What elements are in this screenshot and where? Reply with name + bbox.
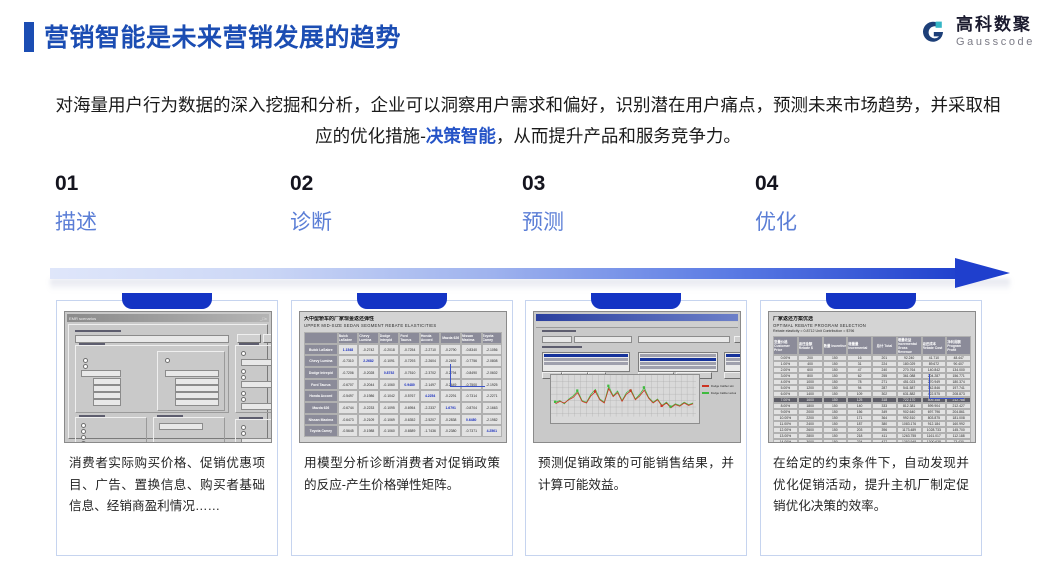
matrix-cell: -0.2028 — [358, 367, 379, 379]
rebate-callout-line — [929, 374, 964, 399]
matrix-cell: -0.6707 — [338, 379, 359, 391]
rebate-cell: 1300.638 — [922, 439, 947, 443]
steps-row: 01 描述 02 诊断 03 预测 04 优化 — [0, 172, 1051, 252]
matrix-row-header: Nissan Maxima — [304, 414, 338, 426]
matrix-corner-cell — [304, 332, 338, 344]
matrix-cell: -0.1060 — [379, 379, 400, 391]
matrix-cell: -2.1056 — [482, 344, 503, 356]
matrix-cell: -0.7314 — [461, 390, 482, 402]
card-describe[interactable]: EMR scenarios_□× — [56, 300, 278, 556]
matrix-cell: -0.7371 — [461, 425, 482, 437]
matrix-col-header: Dodge Intrepid — [379, 332, 400, 344]
legend-label: Dodge Caliber sim — [711, 384, 734, 388]
legend-item: Dodge Caliber sim — [702, 384, 736, 388]
rebate-cell: 427 — [872, 439, 897, 443]
intro-paragraph: 对海量用户行为数据的深入挖掘和分析，企业可以洞察用户需求和偏好，识别潜在用户痛点… — [52, 90, 1004, 151]
rebate-col-header: 总计 Total — [872, 336, 897, 355]
matrix-cell: -0.7254 — [399, 344, 420, 356]
card-tab-badge — [591, 293, 681, 309]
step-04: 04 优化 — [755, 172, 975, 234]
matrix-cell: -0.7293 — [399, 355, 420, 367]
brand-logo: 高科数聚 Gausscode — [918, 16, 1035, 48]
screenshot-elasticity-matrix: 大中型轿车的厂家现金返还弹性 UPPER MID-SIZE SEDAN SEGM… — [299, 311, 507, 443]
matrix-cell: -2.3702 — [420, 367, 441, 379]
logo-text-en: Gausscode — [956, 37, 1035, 48]
matrix-callout-line — [450, 364, 485, 387]
cards-row: EMR scenarios_□× — [0, 300, 1051, 566]
matrix-row-header: Mazda 626 — [304, 402, 338, 414]
matrix-cell: -1.7436 — [420, 425, 441, 437]
matrix-cell: -0.5497 — [338, 390, 359, 402]
card-tab-badge — [826, 293, 916, 309]
matrix-cell: 0.8752 — [379, 367, 400, 379]
card-tab-badge — [357, 293, 447, 309]
matrix-cell: -2.5207 — [420, 414, 441, 426]
slide-header: 营销智能是未来营销发展的趋势 高科数聚 Gausscode — [0, 0, 1051, 70]
matrix-cell: -2.1663 — [482, 402, 503, 414]
matrix-cell: -0.1095 — [379, 402, 400, 414]
matrix-cell: -0.5767 — [399, 390, 420, 402]
matrix-cell: -0.1042 — [379, 390, 400, 402]
matrix-cell: -0.2018 — [379, 344, 400, 356]
rebate-cell: 3000 — [798, 439, 823, 443]
matrix-col-header: Buick LaSabre — [338, 332, 359, 344]
matrix-col-header: Ford Taurus — [399, 332, 420, 344]
matrix-cell: -0.2233 — [358, 402, 379, 414]
matrix-title-cn: 大中型轿车的厂家现金返还弹性 — [304, 316, 502, 323]
sim-menu-bar — [536, 322, 738, 328]
matrix-cell: -0.2291 — [440, 390, 461, 402]
step-number: 01 — [55, 172, 275, 195]
matrix-col-header: Honda Accord — [420, 332, 441, 344]
rebate-row: 14.00%30001502344271353.9481300.63873.43… — [773, 439, 971, 443]
progress-arrow — [50, 264, 1010, 288]
card-diagnose[interactable]: 大中型轿车的厂家现金返还弹性 UPPER MID-SIZE SEDAN SEGM… — [291, 300, 513, 556]
screenshot-rebate-table: 厂家返还方案优选 OPTIMAL REBATE PROGRAM SELECTIO… — [768, 311, 976, 443]
rebate-cell: 1353.948 — [897, 439, 922, 443]
matrix-cell: -0.5645 — [338, 425, 359, 437]
window-controls: _□× — [260, 316, 267, 321]
matrix-row-header: Toyota Camry — [304, 425, 338, 437]
matrix-cell: -0.1060 — [379, 425, 400, 437]
rebate-col-header: 数量 Incentive — [823, 336, 848, 355]
matrix-cell: -0.2838 — [440, 414, 461, 426]
card-caption: 消费者实际购买价格、促销优惠项目、广告、置换信息、购买者基础信息、经销商盈利情况… — [69, 453, 265, 518]
matrix-row-header: Buick LaSabre — [304, 344, 338, 356]
sim-chart-legend: Dodge Caliber sim Dodge Caliber actual — [702, 384, 736, 398]
matrix-cell: 1.6791 — [440, 402, 461, 414]
matrix-cell: -0.2044 — [358, 379, 379, 391]
rebate-col-header: 净利润额 Program Profit — [946, 336, 971, 355]
matrix-cell: -0.6589 — [399, 425, 420, 437]
matrix-cell: -2.2337 — [420, 402, 441, 414]
logo-text-cn: 高科数聚 — [956, 16, 1035, 33]
title-accent-bar — [24, 22, 34, 52]
rebate-subtitle: Rebate elasticity = 0.8712 Unit Contribu… — [773, 329, 971, 334]
arrow-bar — [50, 268, 965, 279]
step-number: 03 — [522, 172, 742, 195]
matrix-cell: -0.2380 — [440, 425, 461, 437]
matrix-cell: -0.1986 — [358, 390, 379, 402]
matrix-cell: 1.1548 — [338, 344, 359, 356]
matrix-row: Buick LaSabre1.1548-0.2742-0.2018-0.7254… — [304, 344, 502, 356]
matrix-cell: 0.9480 — [399, 379, 420, 391]
matrix-cell: -0.2109 — [358, 414, 379, 426]
matrix-cell: -0.1988 — [358, 425, 379, 437]
matrix-cell: 4.2561 — [482, 425, 503, 437]
matrix-col-header: Chevy Lumina — [358, 332, 379, 344]
sim-window-title — [536, 314, 738, 321]
rebate-col-header: 变量价格 Customer Price — [773, 336, 798, 355]
matrix-row-header: Ford Taurus — [304, 379, 338, 391]
matrix-cell: -0.8704 — [461, 402, 482, 414]
rebate-title-cn: 厂家返还方案优选 — [773, 316, 971, 323]
step-01: 01 描述 — [55, 172, 275, 234]
matrix-cell: -0.1091 — [379, 355, 400, 367]
legend-item: Dodge Caliber actual — [702, 391, 736, 395]
matrix-cell: 2.2682 — [358, 355, 379, 367]
matrix-col-header: Toyota Camry — [482, 332, 503, 344]
step-label: 预测 — [522, 211, 742, 234]
matrix-header-row: Buick LaSabreChevy LuminaDodge IntrepidF… — [304, 332, 502, 344]
matrix-cell: 4.2254 — [420, 390, 441, 402]
step-03: 03 预测 — [522, 172, 742, 234]
paragraph-highlight: 决策智能 — [426, 126, 496, 146]
matrix-cell: -2.2271 — [482, 390, 503, 402]
matrix-cell: -2.1982 — [482, 414, 503, 426]
matrix-cell: -0.2790 — [440, 344, 461, 356]
sim-line-chart — [550, 374, 700, 424]
matrix-title-en: UPPER MID-SIZE SEDAN SEGMENT REBATE ELAS… — [304, 323, 502, 329]
card-caption: 用模型分析诊断消费者对促销政策的反应-产生价格弹性矩阵。 — [304, 453, 500, 496]
step-02: 02 诊断 — [290, 172, 510, 234]
matrix-col-header: Mazda 626 — [440, 332, 461, 344]
card-tab-badge — [122, 293, 212, 309]
matrix-row: Nissan Maxima-0.6473-0.2109-0.1069-0.635… — [304, 414, 502, 426]
rebate-col-header: 增量收益 Incremental Gross Revenue — [897, 336, 922, 355]
matrix-row-header: Honda Accord — [304, 390, 338, 402]
matrix-row-header: Dodge Intrepid — [304, 367, 338, 379]
card-optimize[interactable]: 厂家返还方案优选 OPTIMAL REBATE PROGRAM SELECTIO… — [760, 300, 982, 556]
matrix-cell: -0.6473 — [338, 414, 359, 426]
screenshot-emr-dialog: EMR scenarios_□× — [64, 311, 272, 443]
matrix-cell: -0.2742 — [358, 344, 379, 356]
rebate-cell: 14.00% — [773, 439, 798, 443]
matrix-cell: -2.2604 — [420, 355, 441, 367]
step-label: 描述 — [55, 211, 275, 234]
rebate-cell: 150 — [823, 439, 848, 443]
step-number: 02 — [290, 172, 510, 195]
matrix-row: Toyota Camry-0.5645-0.1988-0.1060-0.6589… — [304, 425, 502, 437]
card-caption: 在给定的约束条件下，自动发现并优化促销活动，提升主机厂制定促销优化决策的效率。 — [773, 453, 969, 518]
slide-root: 营销智能是未来营销发展的趋势 高科数聚 Gausscode 对海量用户行为数据的… — [0, 0, 1051, 586]
matrix-cell: -0.6352 — [399, 414, 420, 426]
rebate-col-header: 返还金额 Rebate $ — [798, 336, 823, 355]
matrix-row-header: Chevy Lumina — [304, 355, 338, 367]
page-title: 营销智能是未来营销发展的趋势 — [44, 18, 401, 54]
matrix-cell: -2.2710 — [420, 344, 441, 356]
rebate-cell: 234 — [847, 439, 872, 443]
arrow-head-icon — [955, 258, 1010, 288]
matrix-cell: 0.6480 — [461, 414, 482, 426]
arrow-shadow — [50, 279, 1010, 291]
matrix-cell: -0.7206 — [338, 367, 359, 379]
rebate-header-row: 变量价格 Customer Price返还金额 Rebate $数量 Incen… — [773, 336, 971, 355]
step-label: 优化 — [755, 211, 975, 234]
dialog-title: EMR scenarios — [69, 316, 96, 321]
matrix-row: Mazda 626-0.6744-0.2233-0.1095-0.6954-2.… — [304, 402, 502, 414]
matrix-cell: -0.1069 — [379, 414, 400, 426]
screenshot-simulation: Dodge Caliber sim Dodge Caliber actual — [533, 311, 741, 443]
legend-label: Dodge Caliber actual — [711, 391, 736, 395]
matrix-col-header: Nissan Maxima — [461, 332, 482, 344]
rebate-col-header: 增量量 Incremental — [847, 336, 872, 355]
step-number: 04 — [755, 172, 975, 195]
card-caption: 预测促销政策的可能销售结果，并计算可能效益。 — [538, 453, 734, 496]
matrix-cell: -0.7310 — [338, 355, 359, 367]
gausscode-logo-icon — [918, 17, 948, 47]
matrix-cell: -2.1497 — [420, 379, 441, 391]
step-label: 诊断 — [290, 211, 510, 234]
rebate-col-header: 返还成本 Rebate Cost — [922, 336, 947, 355]
paragraph-part-2: ，从而提升产品和服务竞争力。 — [496, 126, 741, 146]
matrix-cell: -0.6744 — [338, 402, 359, 414]
card-predict[interactable]: Dodge Caliber sim Dodge Caliber actual 预… — [525, 300, 747, 556]
matrix-cell: -0.7510 — [399, 367, 420, 379]
matrix-row: Honda Accord-0.5497-0.1986-0.1042-0.5767… — [304, 390, 502, 402]
rebate-cell: 73.430 — [946, 439, 971, 443]
matrix-cell: -0.6954 — [399, 402, 420, 414]
matrix-cell: -0.8340 — [461, 344, 482, 356]
